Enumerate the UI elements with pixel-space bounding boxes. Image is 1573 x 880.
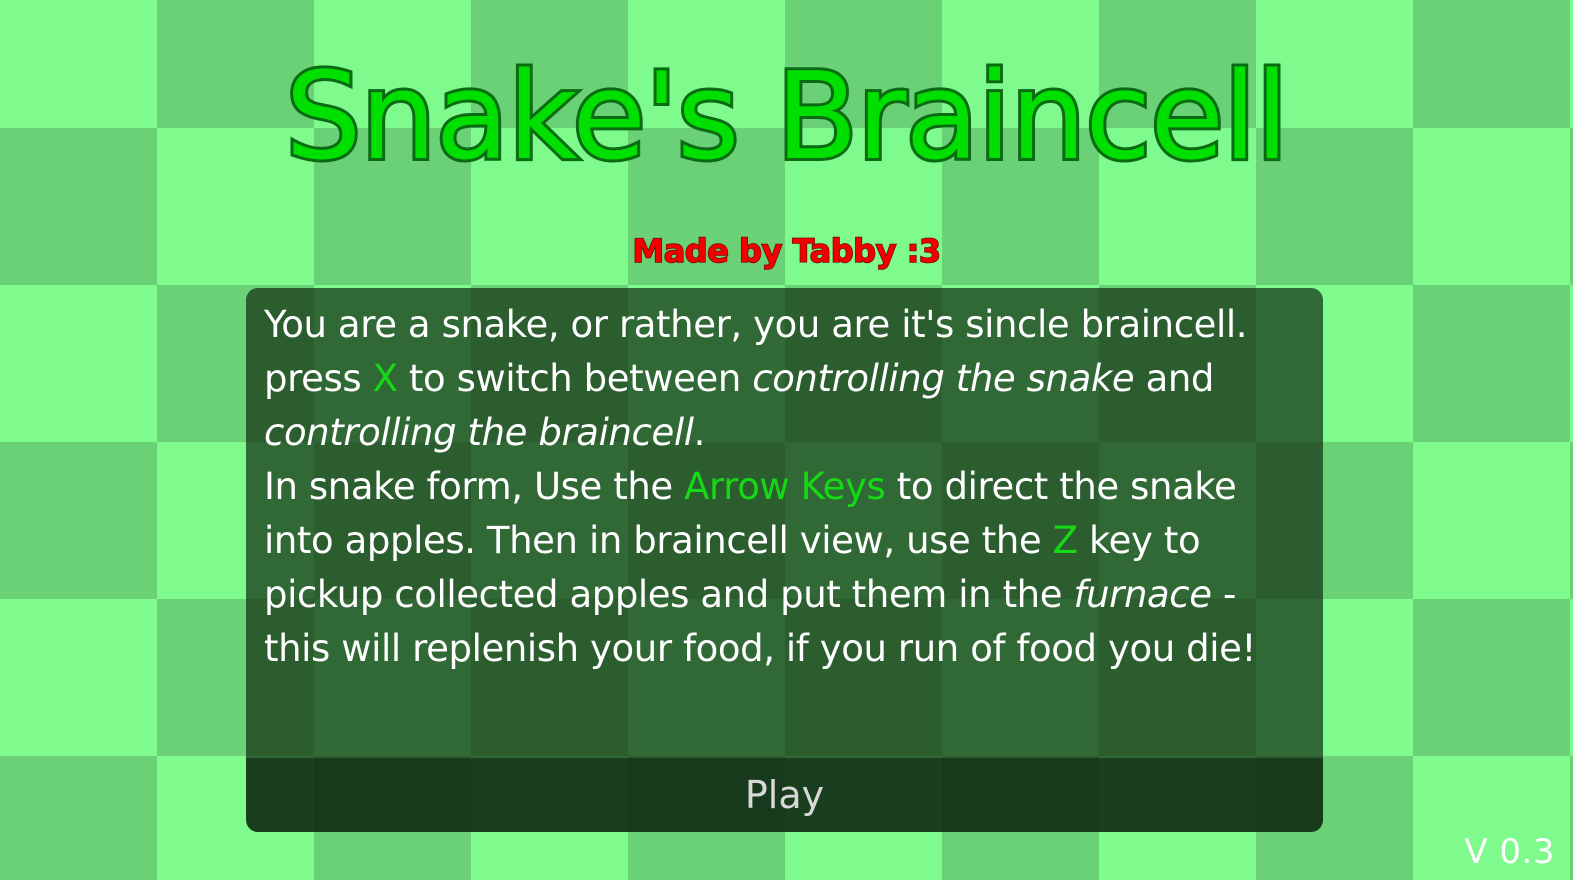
page-title: Snake's Braincell — [285, 58, 1288, 178]
instructions-p1-text-4: . — [694, 411, 705, 454]
instructions-p2-text-1: In snake form, Use the — [264, 465, 684, 508]
title-container: Snake's Braincell — [0, 58, 1573, 178]
instructions-text: You are a snake, or rather, you are it's… — [246, 288, 1323, 758]
instructions-p2-emphasis-1: furnace — [1073, 573, 1211, 616]
play-button-label: Play — [745, 773, 824, 817]
instructions-paragraph-1: You are a snake, or rather, you are it's… — [264, 298, 1305, 460]
play-button[interactable]: Play — [246, 758, 1323, 832]
key-x-highlight: X — [373, 357, 398, 400]
instructions-p1-text-3: and — [1134, 357, 1214, 400]
instructions-p1-emphasis-1: controlling the snake — [752, 357, 1134, 400]
game-menu-screen: Snake's Braincell Made by Tabby :3 You a… — [0, 0, 1573, 880]
version-label: V 0.3 — [1464, 832, 1555, 872]
key-z-highlight: Z — [1053, 519, 1078, 562]
instructions-panel: You are a snake, or rather, you are it's… — [246, 288, 1323, 832]
instructions-paragraph-2: In snake form, Use the Arrow Keys to dir… — [264, 460, 1305, 676]
subtitle-container: Made by Tabby :3 — [0, 232, 1573, 270]
author-credit: Made by Tabby :3 — [632, 232, 940, 270]
instructions-p1-emphasis-2: controlling the braincell — [264, 411, 694, 454]
instructions-p1-text-2: to switch between — [398, 357, 753, 400]
key-arrows-highlight: Arrow Keys — [684, 465, 885, 508]
